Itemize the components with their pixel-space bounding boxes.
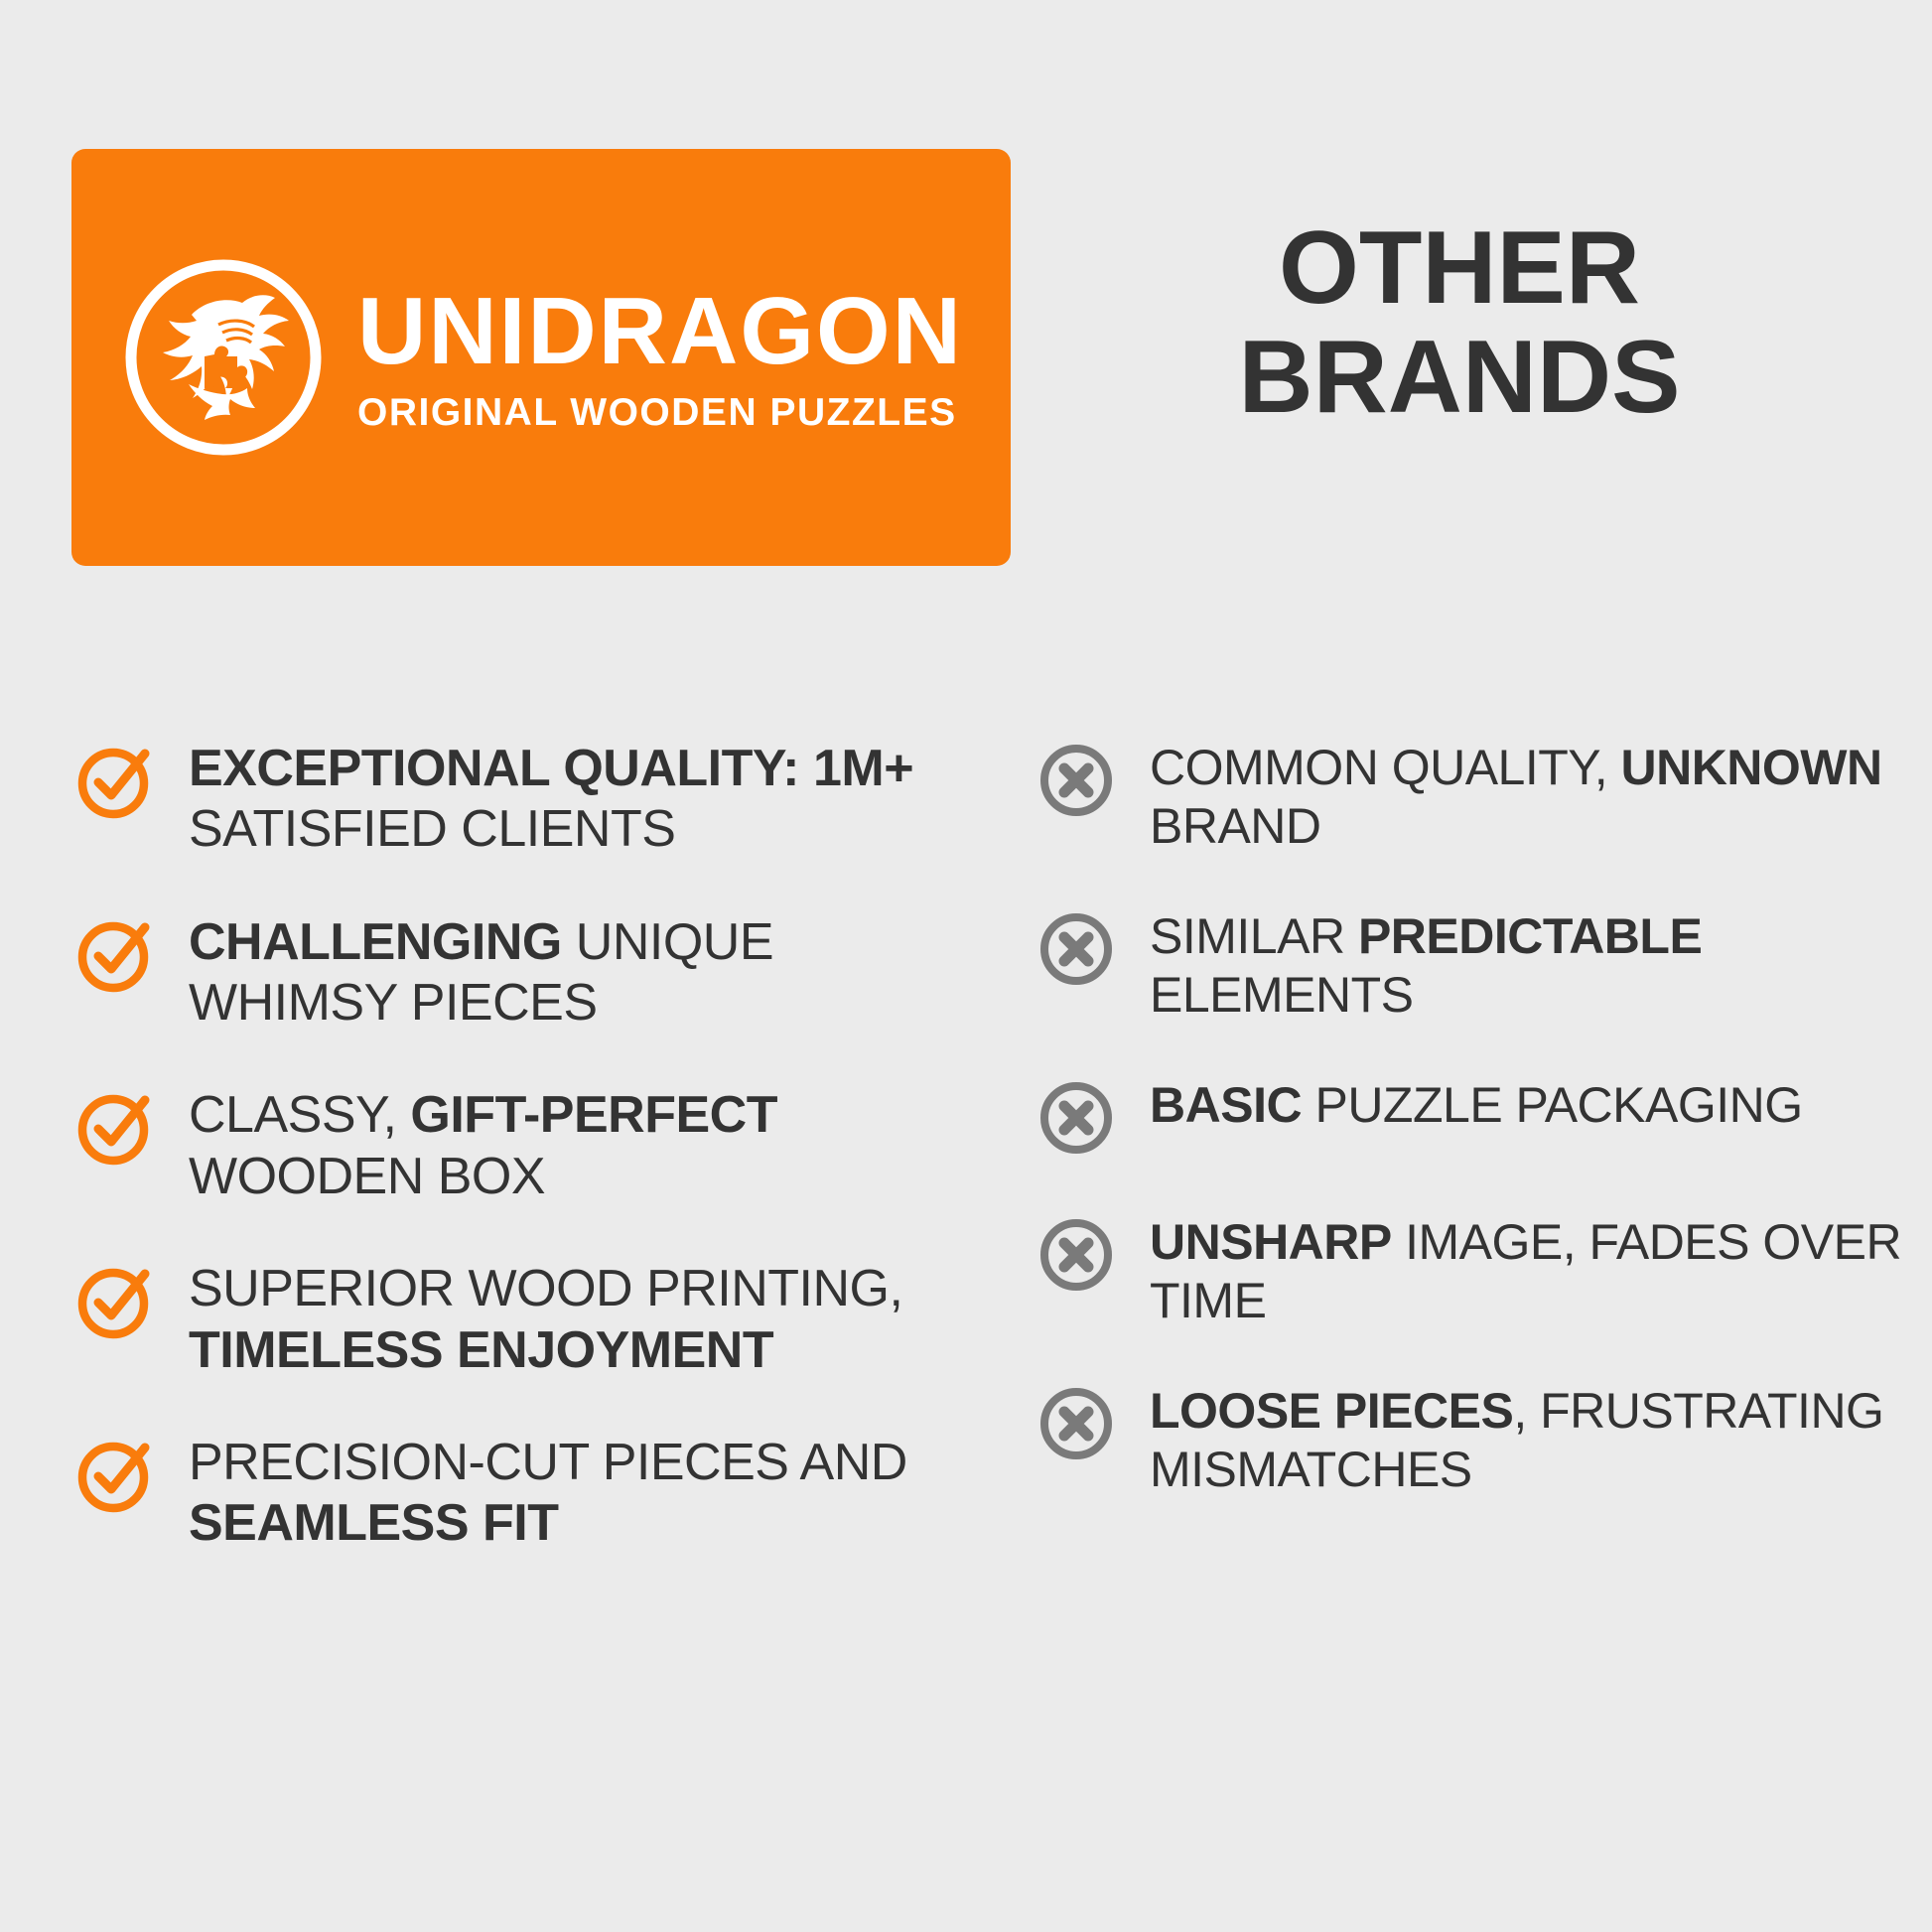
unidragon-brand-badge: UNIDRAGON ORIGINAL WOODEN PUZZLES xyxy=(71,149,1011,566)
feature-text-normal: WOODEN BOX xyxy=(189,1148,545,1205)
unidragon-feature-column: EXCEPTIONAL QUALITY: 1M+ SATISFIED CLIEN… xyxy=(0,735,1013,1555)
feature-text: BASIC PUZZLE PACKAGING xyxy=(1150,1072,1803,1135)
feature-text-emphasis: GIFT-PERFECT xyxy=(410,1086,777,1144)
check-circle-icon xyxy=(71,910,159,998)
feature-text: SIMILAR PREDICTABLE ELEMENTS xyxy=(1150,903,1902,1025)
feature-text: COMMON QUALITY, UNKNOWN BRAND xyxy=(1150,735,1902,856)
x-circle-icon xyxy=(1033,905,1120,993)
feature-text: CHALLENGING UNIQUE WHIMSY PIECES xyxy=(189,908,993,1035)
feature-row: CHALLENGING UNIQUE WHIMSY PIECES xyxy=(71,908,993,1035)
other-brands-title: OTHER BRANDS xyxy=(1013,213,1906,432)
x-circle-icon xyxy=(1033,737,1120,824)
feature-text: PRECISION-CUT PIECES AND SEAMLESS FIT xyxy=(189,1429,993,1555)
x-circle-icon xyxy=(1033,1380,1120,1467)
feature-text-emphasis: EXCEPTIONAL QUALITY: xyxy=(189,740,799,797)
check-circle-icon xyxy=(71,737,159,824)
x-circle-icon xyxy=(1033,1074,1120,1162)
feature-row: EXCEPTIONAL QUALITY: 1M+ SATISFIED CLIEN… xyxy=(71,735,993,861)
feature-text-emphasis: TIMELESS ENJOYMENT xyxy=(189,1321,773,1379)
other-brands-feature-column: COMMON QUALITY, UNKNOWN BRANDSIMILAR PRE… xyxy=(1013,735,1932,1555)
feature-text-emphasis: 1M+ xyxy=(813,740,913,797)
header: UNIDRAGON ORIGINAL WOODEN PUZZLES OTHER … xyxy=(0,0,1932,715)
other-brands-title-line2: BRANDS xyxy=(1013,323,1906,432)
feature-text-normal: COMMON QUALITY, xyxy=(1150,740,1620,795)
unidragon-dragon-circle-icon xyxy=(119,253,328,462)
x-circle-icon xyxy=(1033,1211,1120,1299)
feature-text-normal xyxy=(799,740,813,797)
brand-tagline: ORIGINAL WOODEN PUZZLES xyxy=(357,393,963,432)
check-circle-icon xyxy=(71,1083,159,1171)
feature-text-normal: ELEMENTS xyxy=(1150,967,1414,1023)
unidragon-wordmark: UNIDRAGON ORIGINAL WOODEN PUZZLES xyxy=(357,284,963,432)
feature-text-normal: SUPERIOR WOOD PRINTING, xyxy=(189,1260,902,1317)
brand-name: UNIDRAGON xyxy=(357,284,963,379)
feature-text-emphasis: LOOSE PIECES xyxy=(1150,1383,1513,1439)
comparison-columns: EXCEPTIONAL QUALITY: 1M+ SATISFIED CLIEN… xyxy=(0,735,1932,1555)
feature-row: SIMILAR PREDICTABLE ELEMENTS xyxy=(1033,903,1902,1025)
feature-text-normal: SATISFIED CLIENTS xyxy=(189,800,675,858)
feature-text-emphasis: PREDICTABLE xyxy=(1358,908,1702,964)
feature-text-normal: BRAND xyxy=(1150,798,1321,854)
feature-text-emphasis: UNKNOWN xyxy=(1620,740,1881,795)
feature-text-emphasis: BASIC xyxy=(1150,1077,1302,1133)
feature-row: UNSHARP IMAGE, FADES OVER TIME xyxy=(1033,1209,1902,1330)
feature-text: SUPERIOR WOOD PRINTING, TIMELESS ENJOYME… xyxy=(189,1255,993,1381)
feature-text-normal: PRECISION-CUT PIECES AND xyxy=(189,1434,907,1491)
feature-text-normal: CLASSY, xyxy=(189,1086,410,1144)
feature-row: SUPERIOR WOOD PRINTING, TIMELESS ENJOYME… xyxy=(71,1255,993,1381)
check-circle-icon xyxy=(71,1257,159,1344)
feature-row: CLASSY, GIFT-PERFECT WOODEN BOX xyxy=(71,1081,993,1207)
feature-text: LOOSE PIECES, FRUSTRATING MISMATCHES xyxy=(1150,1378,1902,1499)
feature-text: UNSHARP IMAGE, FADES OVER TIME xyxy=(1150,1209,1902,1330)
feature-row: LOOSE PIECES, FRUSTRATING MISMATCHES xyxy=(1033,1378,1902,1499)
feature-text-emphasis: UNSHARP xyxy=(1150,1214,1392,1270)
feature-text-emphasis: SEAMLESS FIT xyxy=(189,1494,558,1552)
feature-row: COMMON QUALITY, UNKNOWN BRAND xyxy=(1033,735,1902,856)
feature-text-normal: SIMILAR xyxy=(1150,908,1358,964)
other-brands-title-line1: OTHER xyxy=(1013,213,1906,323)
feature-text: CLASSY, GIFT-PERFECT WOODEN BOX xyxy=(189,1081,993,1207)
feature-text-emphasis: CHALLENGING xyxy=(189,913,562,971)
feature-text-normal: PUZZLE PACKAGING xyxy=(1302,1077,1803,1133)
feature-row: BASIC PUZZLE PACKAGING xyxy=(1033,1072,1902,1162)
feature-row: PRECISION-CUT PIECES AND SEAMLESS FIT xyxy=(71,1429,993,1555)
check-circle-icon xyxy=(71,1431,159,1518)
feature-text: EXCEPTIONAL QUALITY: 1M+ SATISFIED CLIEN… xyxy=(189,735,993,861)
